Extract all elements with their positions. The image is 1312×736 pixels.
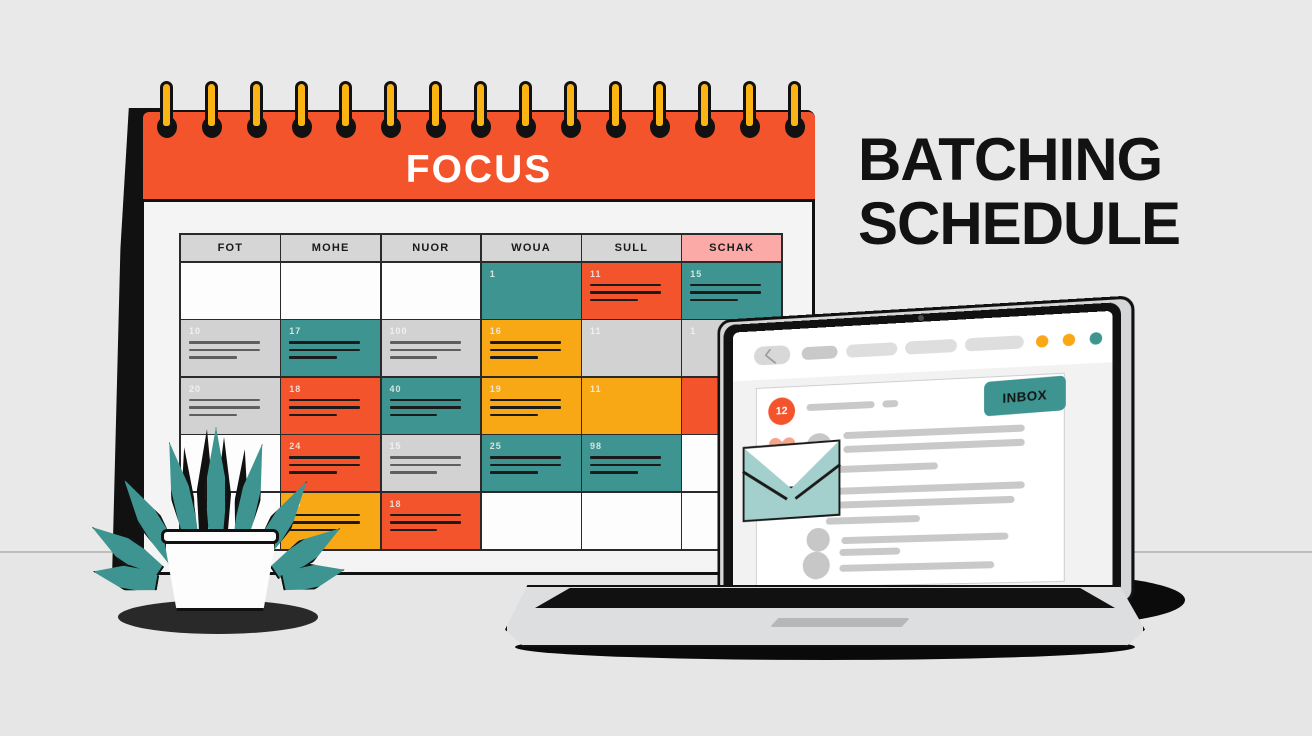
- spiral-wire: [160, 81, 173, 129]
- calendar-day-cell[interactable]: [181, 263, 280, 319]
- spiral-ring: [292, 78, 312, 144]
- spiral-ring: [157, 78, 177, 144]
- day-header-1: MOHE: [281, 235, 380, 261]
- event-line: [189, 399, 260, 402]
- inbox-badge[interactable]: INBOX: [984, 375, 1066, 416]
- laptop: 12 INBOX: [505, 300, 1165, 650]
- day-header-2: NUOR: [382, 235, 481, 261]
- list-item: [826, 515, 920, 525]
- status-dot-3: [1090, 332, 1102, 345]
- spiral-wire: [295, 81, 308, 129]
- title-line-1: BATCHING: [858, 126, 1162, 193]
- list-item: [882, 400, 898, 408]
- spiral-ring: [336, 78, 356, 144]
- list-item: [841, 532, 1008, 544]
- spiral-wire: [339, 81, 352, 129]
- illustration-canvas: BATCHING SCHEDULE FOCUS FOTMOHENUORWOUAS…: [0, 0, 1312, 736]
- calendar-header-label: FOCUS: [406, 148, 553, 192]
- event-line: [390, 399, 461, 402]
- laptop-screen: 12 INBOX: [733, 311, 1112, 598]
- spiral-wire: [250, 81, 263, 129]
- event-line: [690, 291, 761, 294]
- plant-pot: [163, 533, 277, 611]
- spiral-wire: [788, 81, 801, 129]
- list-item: [807, 401, 875, 411]
- spiral-wire: [519, 81, 532, 129]
- calendar-day-cell[interactable]: 18: [281, 378, 380, 434]
- spiral-ring: [561, 78, 581, 144]
- event-line: [289, 456, 360, 459]
- spiral-wire: [698, 81, 711, 129]
- spiral-ring: [740, 78, 760, 144]
- event-line: [189, 406, 260, 409]
- day-number: 20: [189, 384, 272, 394]
- day-number: 25: [289, 499, 372, 509]
- spiral-ring: [785, 78, 805, 144]
- event-line: [289, 529, 337, 532]
- spiral-wire: [653, 81, 666, 129]
- day-number: 18: [390, 499, 473, 509]
- laptop-keyboard-area: [535, 588, 1115, 608]
- spiral-ring: [426, 78, 446, 144]
- spiral-ring: [471, 78, 491, 144]
- toolbar-pill-2[interactable]: [846, 342, 897, 358]
- event-line: [390, 521, 461, 524]
- day-number: 15: [390, 441, 473, 451]
- day-header-5: SCHAK: [682, 235, 781, 261]
- calendar-day-cell[interactable]: 24: [281, 435, 380, 491]
- day-number: 100: [390, 326, 473, 336]
- list-item: [843, 424, 1024, 439]
- event-line: [289, 399, 360, 402]
- envelope-icon: [743, 439, 841, 522]
- event-line: [390, 341, 461, 344]
- spiral-wire: [474, 81, 487, 129]
- event-line: [289, 406, 360, 409]
- event-line: [390, 414, 438, 417]
- event-line: [289, 341, 360, 344]
- calendar-day-cell[interactable]: 100: [382, 320, 481, 376]
- spiral-wire: [429, 81, 442, 129]
- list-item: [826, 481, 1025, 495]
- calendar-day-cell[interactable]: 17: [281, 320, 380, 376]
- event-line: [189, 356, 237, 359]
- event-line: [390, 464, 461, 467]
- day-header-3: WOUA: [482, 235, 581, 261]
- event-line: [289, 514, 360, 517]
- envelope-flap: [743, 439, 841, 491]
- spiral-wire: [743, 81, 756, 129]
- event-line: [390, 514, 461, 517]
- webcam-icon: [918, 315, 924, 321]
- event-line: [590, 291, 661, 294]
- event-line: [189, 341, 260, 344]
- event-line: [390, 471, 438, 474]
- day-number: 1: [490, 269, 573, 279]
- spiral-ring: [381, 78, 401, 144]
- day-number: 17: [289, 326, 372, 336]
- event-line: [690, 284, 761, 287]
- status-dot-2: [1063, 333, 1075, 346]
- spiral-wire: [205, 81, 218, 129]
- day-number: 18: [289, 384, 372, 394]
- calendar-day-cell[interactable]: 10: [181, 320, 280, 376]
- day-number: 40: [390, 384, 473, 394]
- spiral-ring: [516, 78, 536, 144]
- laptop-trackpad[interactable]: [770, 618, 910, 627]
- calendar-spiral-binding: [141, 78, 815, 148]
- status-dot-1: [1036, 335, 1048, 348]
- calendar-day-cell[interactable]: 18: [382, 493, 481, 549]
- event-line: [590, 284, 661, 287]
- spiral-ring: [247, 78, 267, 144]
- list-item: [832, 462, 938, 473]
- list-item: [843, 439, 1024, 453]
- toolbar-pill-3[interactable]: [905, 339, 957, 355]
- event-line: [289, 464, 360, 467]
- event-line: [390, 456, 461, 459]
- spiral-ring: [202, 78, 222, 144]
- calendar-day-cell[interactable]: [281, 263, 380, 319]
- event-line: [189, 414, 237, 417]
- day-number: 24: [289, 441, 372, 451]
- unread-count-badge: 12: [768, 397, 795, 426]
- event-line: [189, 349, 260, 352]
- event-line: [390, 349, 461, 352]
- event-line: [390, 529, 438, 532]
- event-line: [390, 356, 438, 359]
- plant-pot-rim: [161, 529, 279, 544]
- toolbar-pill-1[interactable]: [802, 345, 838, 360]
- toolbar-pill-4[interactable]: [965, 335, 1024, 351]
- avatar: [803, 551, 830, 579]
- spiral-wire: [609, 81, 622, 129]
- day-number: 15: [690, 269, 773, 279]
- day-number: 10: [189, 326, 272, 336]
- spiral-ring: [650, 78, 670, 144]
- list-item: [839, 561, 994, 572]
- list-item: [839, 547, 900, 556]
- page-title: BATCHING SCHEDULE: [858, 128, 1278, 256]
- event-line: [289, 414, 337, 417]
- spiral-ring: [606, 78, 626, 144]
- spiral-wire: [384, 81, 397, 129]
- calendar-day-cell[interactable]: 15: [382, 435, 481, 491]
- avatar: [807, 528, 830, 552]
- event-line: [289, 471, 337, 474]
- event-line: [289, 349, 360, 352]
- title-line-2: SCHEDULE: [858, 192, 1278, 256]
- potted-plant: [145, 425, 295, 610]
- list-item: [826, 496, 1015, 509]
- day-header-0: FOT: [181, 235, 280, 261]
- day-number: 11: [590, 269, 673, 279]
- calendar-day-cell[interactable]: [382, 263, 481, 319]
- day-header-4: SULL: [582, 235, 681, 261]
- spiral-wire: [564, 81, 577, 129]
- back-arrow-icon[interactable]: [754, 345, 790, 366]
- event-line: [289, 356, 337, 359]
- spiral-ring: [695, 78, 715, 144]
- calendar-day-cell[interactable]: 40: [382, 378, 481, 434]
- event-line: [289, 521, 360, 524]
- event-line: [390, 406, 461, 409]
